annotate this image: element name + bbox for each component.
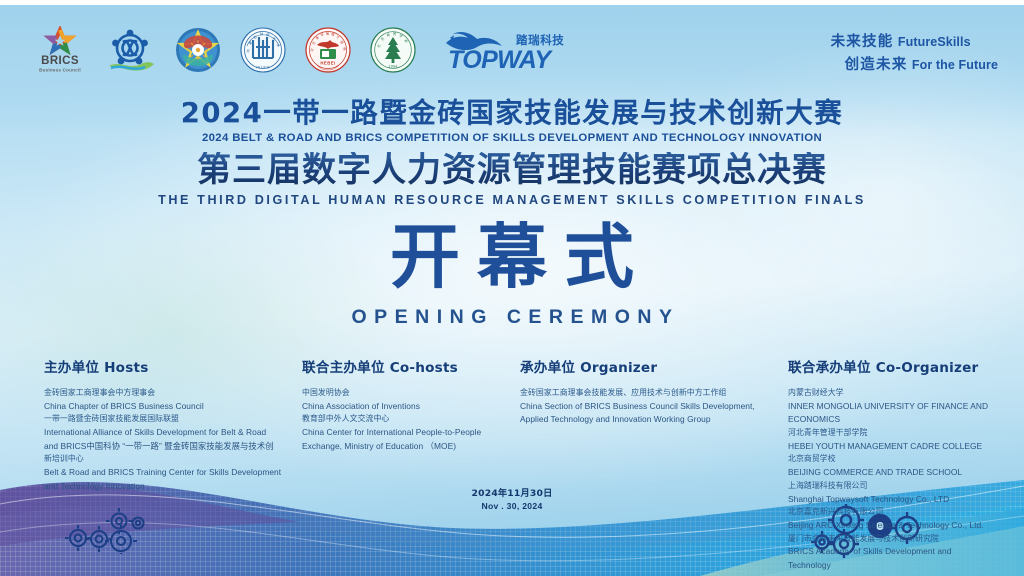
organizer-heading: 联合承办单位 Co-Organizer <box>788 356 994 376</box>
organizer-list: 金砖国家工商理事会技能发展、应用技术与创新中方工作组 China Section… <box>520 387 774 427</box>
organizer-column-coorganizer: 联合承办单位 Co-Organizer 内蒙古财经大学 INNER MONGOL… <box>788 356 1008 576</box>
ceremony-title-en: OPENING CEREMONY <box>0 306 1024 329</box>
slogan-line-2-cn: 创造未来 <box>845 57 908 73</box>
slogan-line-2-en: For the Future <box>912 58 998 72</box>
list-item: Exchange, Ministry of Education （MOE) <box>302 440 506 454</box>
ceremony-title-cn: 开幕式 <box>0 222 1024 292</box>
topway-logo: TOPWAY 踏瑞科技 <box>444 26 564 74</box>
china-association-inventions-logo <box>174 26 222 74</box>
brics-business-council-logo: BRICS Business Council <box>34 26 86 74</box>
list-item: 金砖国家工商理事会技能发展、应用技术与创新中方工作组 <box>520 387 774 400</box>
list-item: China Section of BRICS Business Council … <box>520 400 774 414</box>
slogan-line-1-cn: 未来技能 <box>831 34 894 50</box>
svg-text:INUFE: INUFE <box>256 65 270 70</box>
organizer-heading: 承办单位 Organizer <box>520 356 774 376</box>
list-item: China Center for International People-to… <box>302 426 506 440</box>
list-item: 厦门市金砖未来技能发展与技术创新研究院 <box>788 533 994 546</box>
svg-text:管: 管 <box>326 31 330 36</box>
list-item: Beijing ARC Xinxing Science & Technology… <box>788 519 994 533</box>
organizer-heading: 联合主办单位 Co-hosts <box>302 356 506 376</box>
slide-canvas: BRICS Business Council <box>0 0 1024 576</box>
organizer-column-hosts: 主办单位 Hosts 金砖国家工商理事会中方理事会 China Chapter … <box>44 356 302 576</box>
slogan-line-2: 创造未来 For the Future <box>831 54 998 77</box>
competition-title-cn: 2024一带一路暨金砖国家技能发展与技术创新大赛 <box>0 98 1024 129</box>
svg-text:1964: 1964 <box>388 65 397 69</box>
list-item: 中国发明协会 <box>302 387 506 400</box>
list-item: 河北青年管理干部学院 <box>788 427 994 440</box>
organizer-list: 金砖国家工商理事会中方理事会 China Chapter of BRICS Bu… <box>44 387 288 493</box>
svg-text:HEBEI: HEBEI <box>320 61 335 66</box>
international-alliance-logo <box>103 26 157 74</box>
list-item: China Association of Inventions <box>302 400 506 414</box>
organizer-heading: 主办单位 Hosts <box>44 356 288 376</box>
top-white-edge <box>0 0 1024 5</box>
event-title-en: THE THIRD DIGITAL HUMAN RESOURCE MANAGEM… <box>0 193 1024 207</box>
list-item: HEBEI YOUTH MANAGEMENT CADRE COLLEGE <box>788 440 994 454</box>
list-item: BEIJING COMMERCE AND TRADE SCHOOL <box>788 466 994 480</box>
slogan-line-1-en: FutureSkills <box>898 35 971 49</box>
event-date-cn: 2024年11月30日 <box>0 485 1024 499</box>
event-date-block: 2024年11月30日 Nov . 30, 2024 <box>0 485 1024 511</box>
list-item: BRICS Academy of Skills Development and … <box>788 545 994 572</box>
list-item: China Chapter of BRICS Business Council <box>44 400 288 414</box>
event-title-cn: 第三届数字人力资源管理技能赛项总决赛 <box>0 152 1024 189</box>
list-item: Belt & Road and BRICS Training Center fo… <box>44 466 288 480</box>
list-item: 新培训中心 <box>44 453 288 466</box>
list-item: 一带一路暨金砖国家技能发展国际联盟 <box>44 413 288 426</box>
title-block: 2024一带一路暨金砖国家技能发展与技术创新大赛 2024 BELT & ROA… <box>0 98 1024 207</box>
list-item: International Alliance of Skills Develop… <box>44 426 288 440</box>
inufe-university-logo: INUFE 内 蒙 古 财 经 大 学 <box>239 26 287 74</box>
list-item: 教育部中外人文交流中心 <box>302 413 506 426</box>
organizer-column-organizer: 承办单位 Organizer 金砖国家工商理事会技能发展、应用技术与创新中方工作… <box>520 356 788 576</box>
partner-logo-row: BRICS Business Council <box>34 24 564 76</box>
list-item: 北京商贸学校 <box>788 453 994 466</box>
organizer-list: 内蒙古财经大学 INNER MONGOLIA UNIVERSITY OF FIN… <box>788 387 994 576</box>
list-item: 内蒙古财经大学 <box>788 387 994 400</box>
event-date-en: Nov . 30, 2024 <box>0 501 1024 511</box>
organizer-column-cohosts: 联合主办单位 Co-hosts 中国发明协会 China Association… <box>302 356 520 576</box>
organizer-list: 中国发明协会 China Association of Inventions 教… <box>302 387 506 453</box>
beijing-commerce-school-logo: 1964 北 京 商 贸 学 校 <box>369 26 417 74</box>
list-item: INNER MONGOLIA UNIVERSITY OF FINANCE AND… <box>788 400 994 427</box>
hebei-youth-college-logo: HEBEI 河 北 青 年 管 理 干 部 院 <box>304 26 352 74</box>
list-item: Innovation (Xiamen) <box>788 573 994 576</box>
list-item: and BRICS中国科协 “一带一路” 暨金砖国家技能发展与技术创 <box>44 440 288 454</box>
brics-subtext: Business Council <box>39 68 81 73</box>
topway-wordmark: TOPWAY <box>448 46 553 74</box>
competition-title-en: 2024 BELT & ROAD AND BRICS COMPETITION O… <box>0 132 1024 144</box>
topway-chinese-name: 踏瑞科技 <box>516 33 564 47</box>
slogan-block: 未来技能 FutureSkills 创造未来 For the Future <box>831 31 998 76</box>
organizers-section: 主办单位 Hosts 金砖国家工商理事会中方理事会 China Chapter … <box>0 356 1024 576</box>
slogan-line-1: 未来技能 FutureSkills <box>831 31 998 54</box>
brics-wordmark: BRICS <box>41 55 79 67</box>
list-item: Applied Technology and Innovation Workin… <box>520 413 774 427</box>
ceremony-block: 开幕式 OPENING CEREMONY <box>0 222 1024 329</box>
list-item: 金砖国家工商理事会中方理事会 <box>44 387 288 400</box>
